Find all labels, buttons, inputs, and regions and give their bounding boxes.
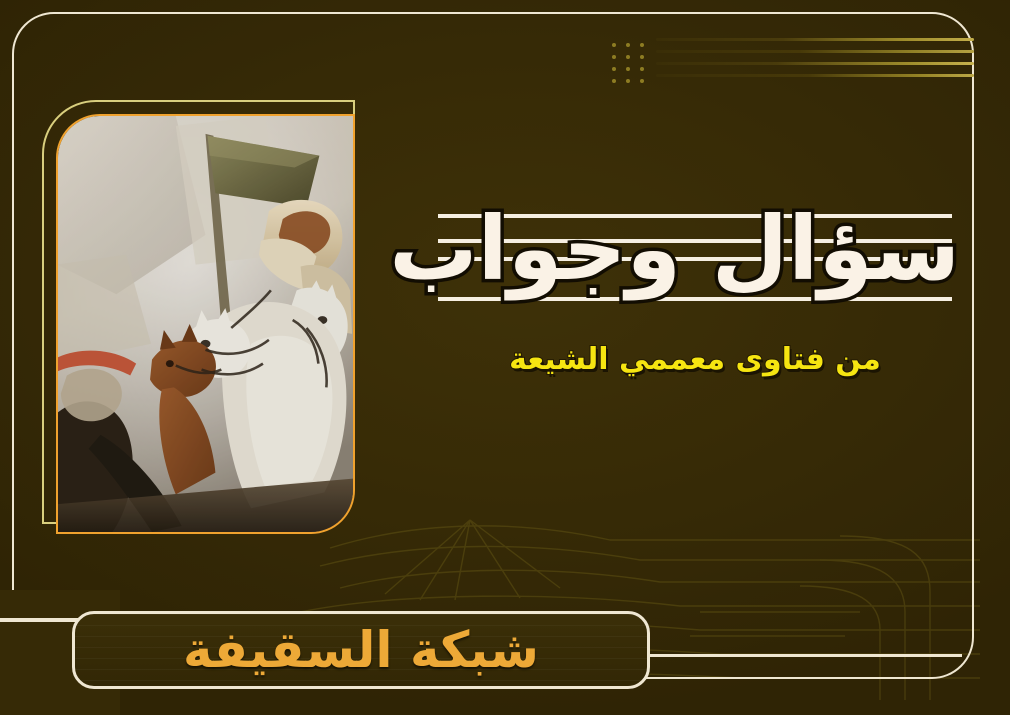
photo-inner-border xyxy=(56,114,355,534)
battle-scene-artwork xyxy=(58,116,353,532)
banner-extension-rule xyxy=(650,654,962,657)
dot-grid-icon xyxy=(612,40,654,88)
title-block: سؤال وجواب من فتاوى معممي الشيعة xyxy=(430,196,960,396)
brand-banner: شبكة السقيفة xyxy=(72,611,650,689)
top-right-decoration xyxy=(612,38,974,90)
gradient-stripes xyxy=(656,38,974,86)
photo-frame xyxy=(42,100,355,524)
page-title: سؤال وجواب xyxy=(430,194,960,304)
page-subtitle: من فتاوى معممي الشيعة xyxy=(430,342,960,377)
poster-canvas: سؤال وجواب من فتاوى معممي الشيعة شبكة ال… xyxy=(0,0,1010,715)
battle-scene-image xyxy=(58,116,353,532)
frame-corner-stub xyxy=(0,618,78,622)
brand-name: شبكة السقيفة xyxy=(183,621,539,679)
